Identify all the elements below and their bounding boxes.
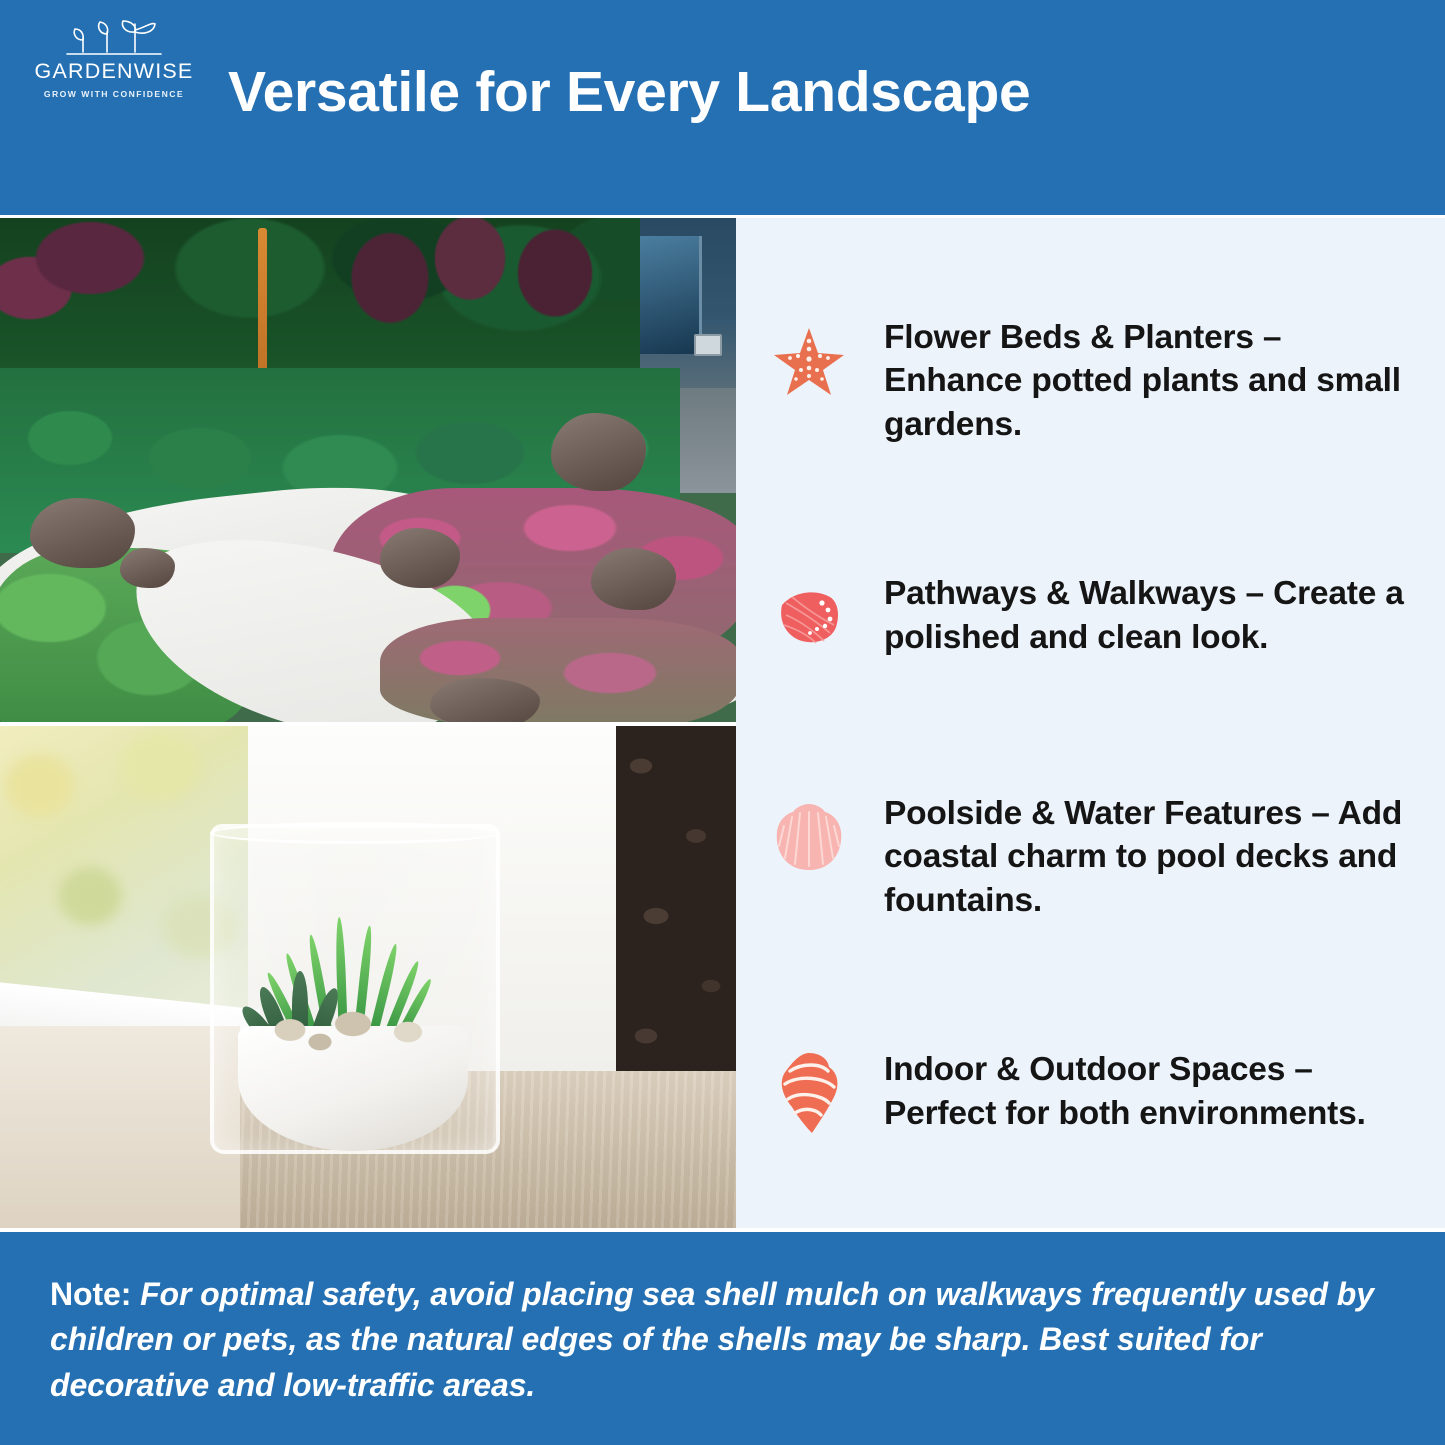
plant-sprout-icon: [59, 14, 169, 60]
infographic-page: GARDENWISE GROW WITH CONFIDENCE Versatil…: [0, 0, 1445, 1445]
garden-rock: [30, 498, 135, 568]
header-bar: GARDENWISE GROW WITH CONFIDENCE Versatil…: [0, 0, 1445, 215]
note-label: Note:: [50, 1276, 131, 1312]
garden-rock: [430, 678, 540, 722]
garden-rock: [380, 528, 460, 588]
benefit-item: Indoor & Outdoor Spaces – Perfect for bo…: [764, 1042, 1417, 1146]
scallop-shell-icon: [764, 790, 854, 886]
benefit-label: Indoor & Outdoor Spaces – Perfect for bo…: [884, 1046, 1417, 1135]
benefits-list: Flower Beds & Planters – Enhance potted …: [740, 218, 1445, 1228]
page-title: Versatile for Every Landscape: [228, 62, 1368, 124]
benefit-label: Pathways & Walkways – Create a polished …: [884, 570, 1417, 659]
burgundy-foliage: [330, 218, 660, 368]
benefit-label: Flower Beds & Planters – Enhance potted …: [884, 314, 1417, 447]
safety-note: Note: For optimal safety, avoid placing …: [50, 1272, 1393, 1408]
note-body: For optimal safety, avoid placing sea sh…: [50, 1276, 1374, 1403]
footer-bar: Note: For optimal safety, avoid placing …: [0, 1232, 1445, 1445]
brand-tagline: GROW WITH CONFIDENCE: [14, 89, 214, 99]
conch-shell-icon: [764, 1046, 854, 1142]
garden-light-icon: [694, 334, 722, 356]
garden-rock: [120, 548, 175, 588]
dark-patterned-wall: [616, 726, 736, 1106]
brand-logo: GARDENWISE GROW WITH CONFIDENCE: [14, 14, 214, 99]
garden-rock: [591, 548, 676, 610]
indoor-planter-photo: [0, 726, 736, 1228]
pebble-mulch: [258, 1004, 448, 1054]
clam-shell-icon: [764, 570, 854, 666]
brand-name: GARDENWISE: [14, 61, 214, 83]
benefit-label: Poolside & Water Features – Add coastal …: [884, 790, 1417, 923]
garden-landscape-photo: [0, 218, 736, 722]
sill-left-edge: [0, 1026, 240, 1228]
glass-rim: [210, 822, 500, 844]
starfish-icon: [764, 314, 854, 410]
photo-column: [0, 218, 736, 1228]
garden-rock: [551, 413, 646, 491]
benefit-item: Flower Beds & Planters – Enhance potted …: [764, 310, 1417, 451]
benefit-item: Poolside & Water Features – Add coastal …: [764, 786, 1417, 927]
content-area: Flower Beds & Planters – Enhance potted …: [0, 218, 1445, 1228]
benefit-item: Pathways & Walkways – Create a polished …: [764, 566, 1417, 670]
